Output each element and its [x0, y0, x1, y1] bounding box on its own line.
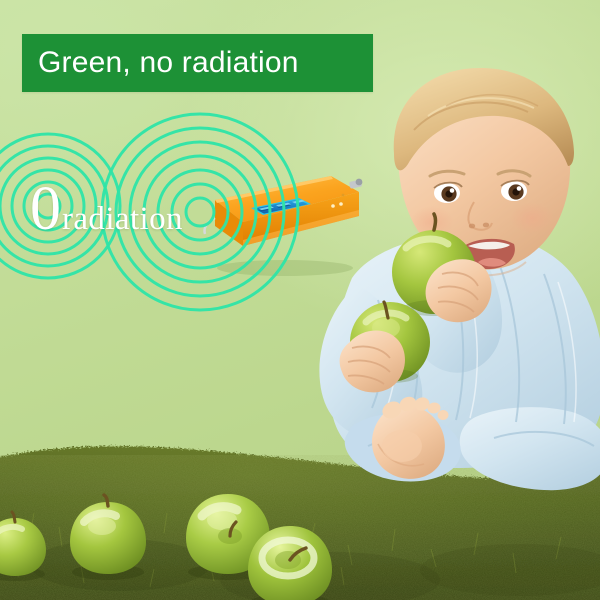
antenna-connector — [349, 179, 362, 189]
apple-far-left — [0, 510, 52, 582]
zero-radiation-label: 0 radiation — [30, 178, 183, 240]
headline-text: Green, no radiation — [22, 46, 299, 80]
promo-poster: 0 radiation Green, no radiation — [0, 0, 600, 600]
headline-banner: Green, no radiation — [22, 34, 373, 92]
signal-booster-device — [203, 170, 339, 262]
apple-left — [62, 494, 154, 582]
zero-radiation-word: radiation — [62, 203, 183, 236]
apple-front — [240, 520, 340, 600]
zero-radiation-digit: 0 — [30, 178, 61, 240]
